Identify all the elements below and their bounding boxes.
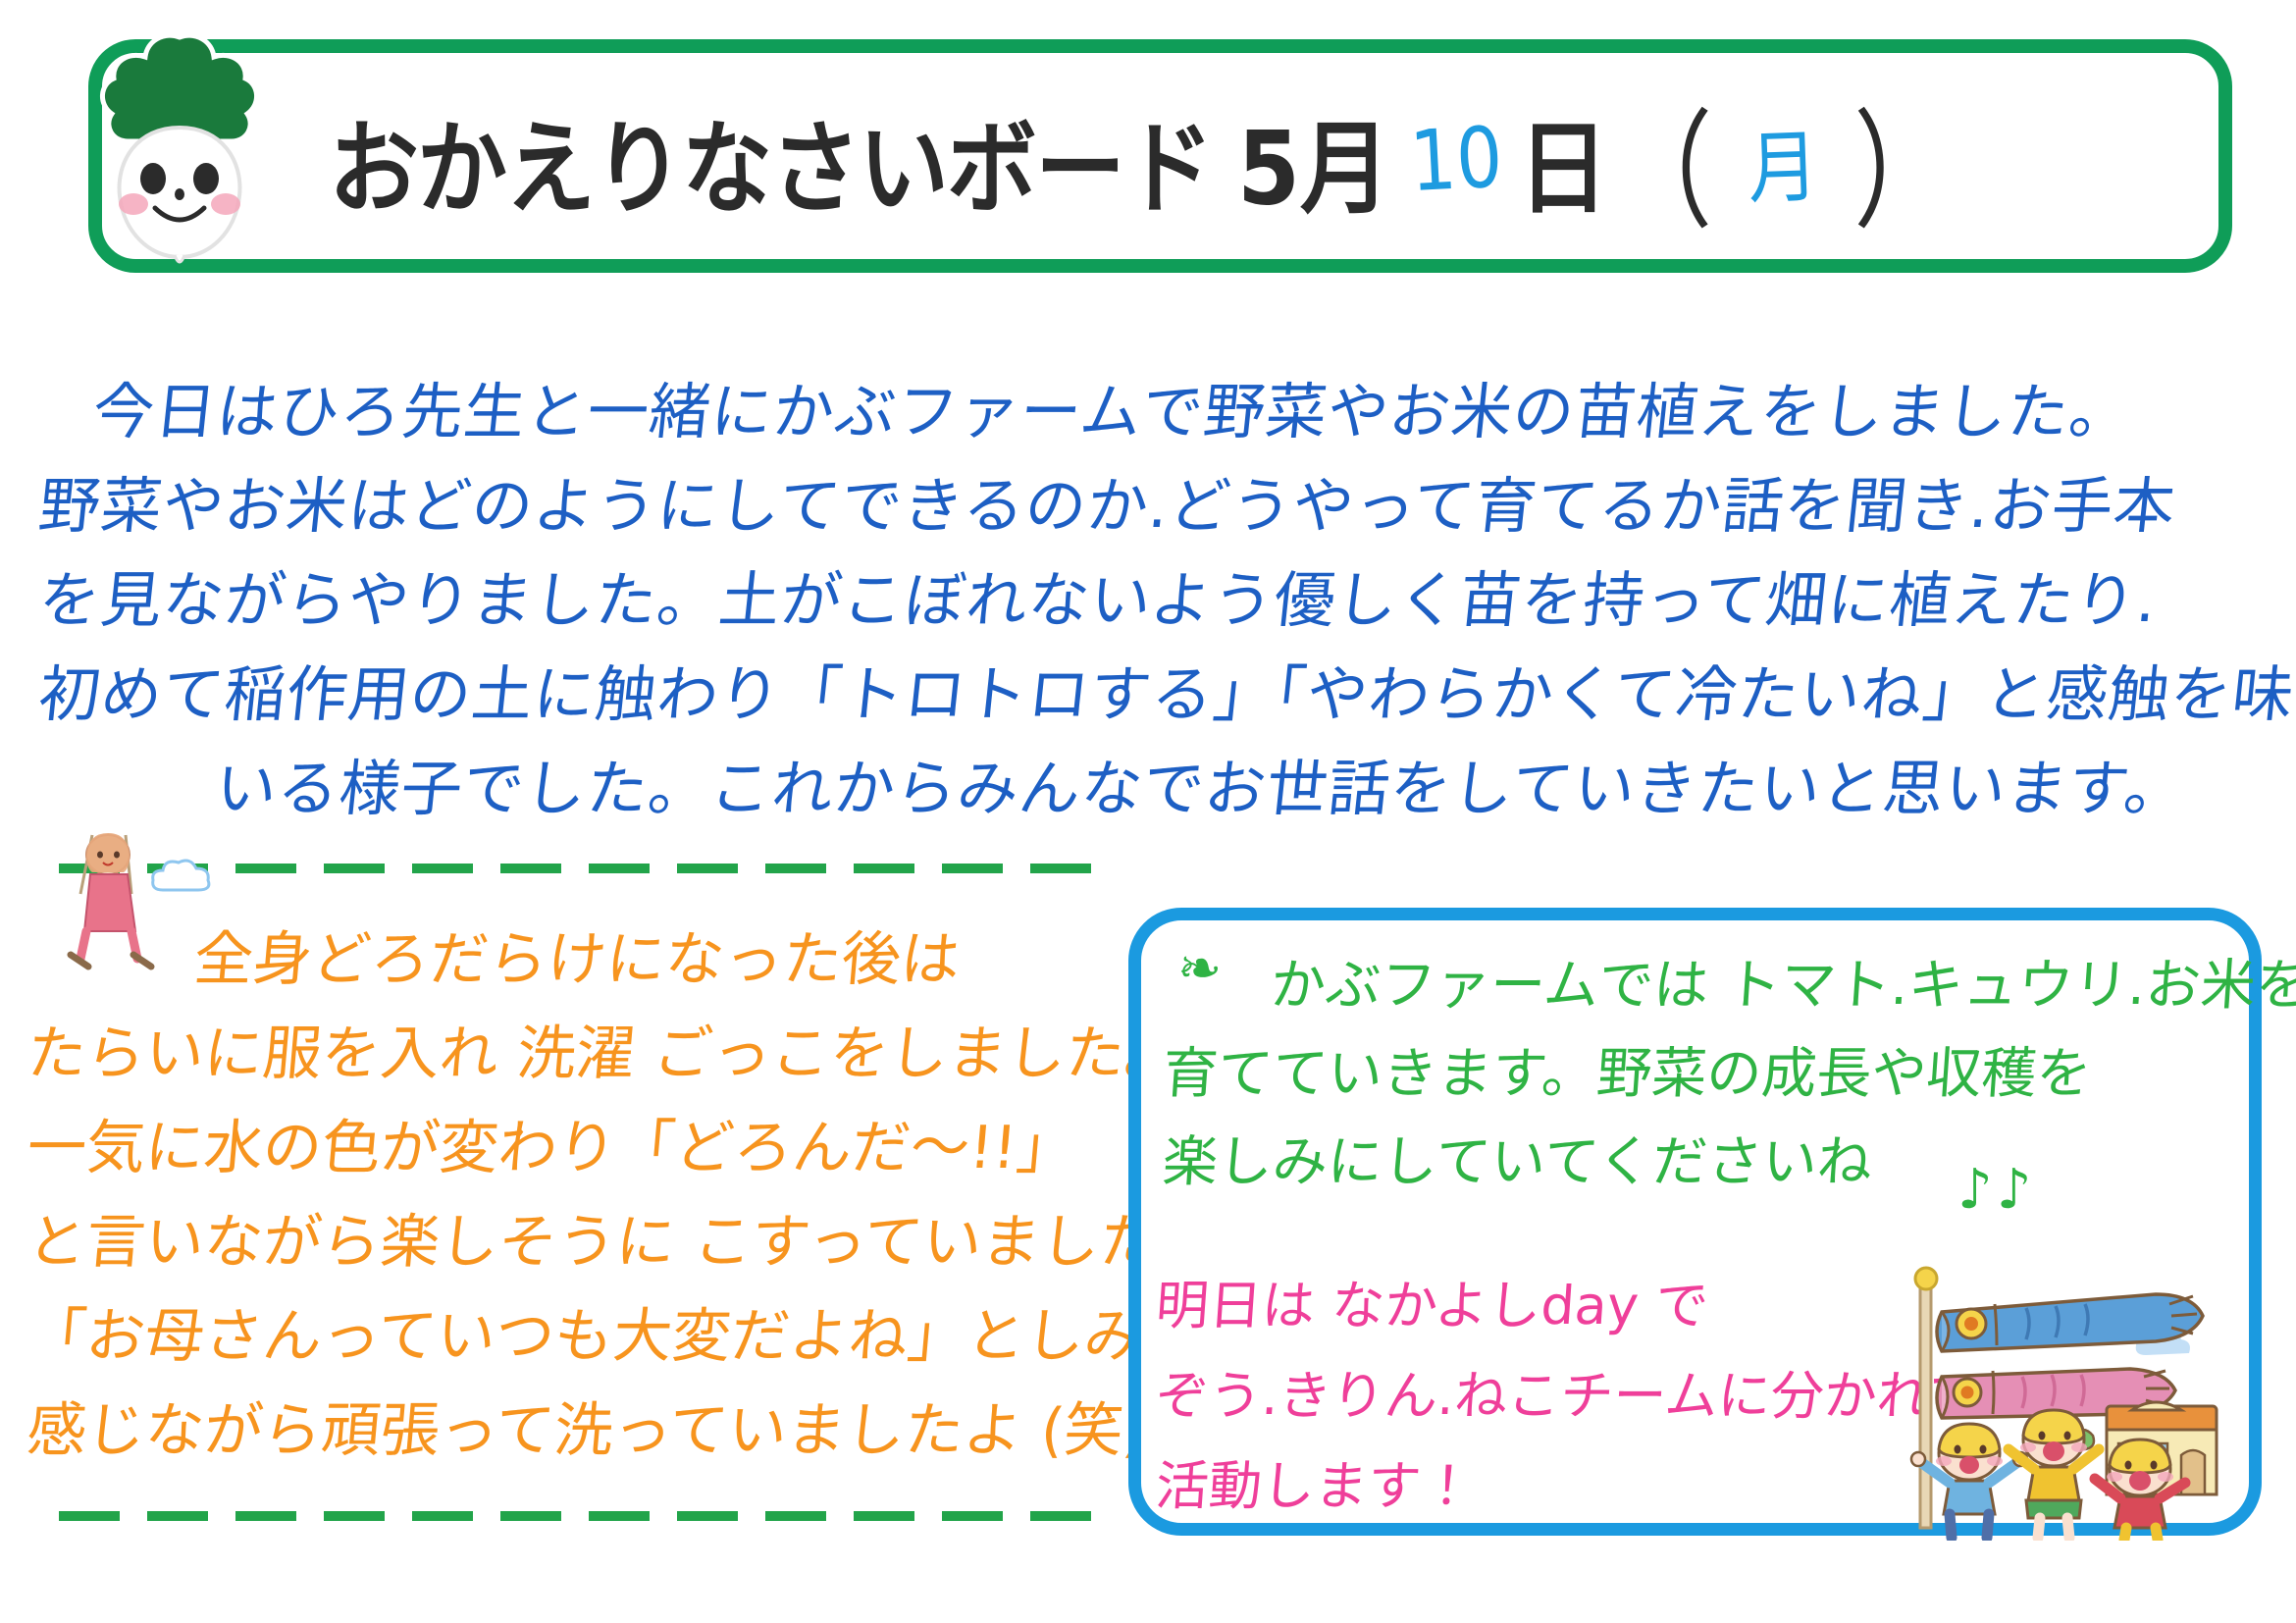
laundry-line: 一気に水の色が変わり「どろんだ〜!!」 xyxy=(24,1101,1130,1195)
board-title: おかえりなさいボード xyxy=(329,87,1212,234)
daily-report-text: 今日はひろ先生と一緒にかぶファームで野菜やお米の苗植えをしました。 野菜やお米は… xyxy=(39,365,2286,836)
farm-note-line: かぶファームでは トマト.キュウリ.お米を xyxy=(1160,942,2255,1030)
month-label: 5月 xyxy=(1237,87,1390,234)
report-line: いる様子でした。これからみんなでお世話をしていきたいと思います。 xyxy=(34,742,2291,836)
farm-note-line: 楽しみにしていてくださいね xyxy=(1160,1119,2255,1207)
report-line: 野菜やお米はどのようにしてできるのか.どうやって育てるか話を聞き.お手本 xyxy=(34,459,2291,553)
day-label: 日 xyxy=(1518,87,1608,234)
tomorrow-note-line: ぞう.きりん.ねこチームに分かれて xyxy=(1153,1351,1963,1441)
laundry-line: 全身どろだらけになった後は xyxy=(24,913,1130,1007)
report-line: 今日はひろ先生と一緒にかぶファームで野菜やお米の苗植えをしました。 xyxy=(34,365,2291,459)
report-line: 初めて稲作用の土に触わり「トロトロする」「やわらかくて冷たいね」と感触を味わって xyxy=(34,648,2291,742)
report-line: を見ながらやりました。土がこぼれないよう優しく苗を持って畑に植えたり. xyxy=(34,553,2291,648)
turnip-mascot-icon xyxy=(77,29,283,265)
laundry-line: 「お母さんっていつも大変だよね」としみじみ xyxy=(24,1289,1130,1384)
music-note-icon: ♪♪ xyxy=(1957,1158,2035,1222)
paren-close: ） xyxy=(1853,68,1952,253)
divider-bottom xyxy=(59,1511,1099,1521)
header-title-row: おかえりなさいボード 5月 10 日 （ 月 ） xyxy=(329,86,1948,234)
koinobori-illustration-icon xyxy=(1899,1261,2237,1541)
farm-note-text: かぶファームでは トマト.キュウリ.お米を 育てていきます。野菜の成長や収穫を … xyxy=(1163,942,2252,1207)
tomorrow-note-line: 明日は なかよしday で xyxy=(1153,1261,1963,1351)
tomorrow-note-text: 明日は なかよしday で ぞう.きりん.ねこチームに分かれて 活動します！ xyxy=(1156,1261,1960,1532)
weekday-handwritten: 月 xyxy=(1746,101,1820,219)
laundry-story-text: 全身どろだらけになった後は たらいに服を入れ 洗濯 ごっこをしました。 一気に水… xyxy=(27,913,1126,1478)
paren-open: （ xyxy=(1614,68,1712,253)
okaerinasai-board: おかえりなさいボード 5月 10 日 （ 月 ） 今日はひろ先生と一緒にかぶファ… xyxy=(0,0,2296,1623)
farm-note-line: 育てていきます。野菜の成長や収穫を xyxy=(1160,1030,2255,1119)
laundry-line: と言いながら楽しそうに こすっていました。 xyxy=(24,1195,1130,1289)
laundry-line: 感じながら頑張って洗っていましたよ (笑) xyxy=(24,1384,1130,1478)
laundry-line: たらいに服を入れ 洗濯 ごっこをしました。 xyxy=(24,1007,1130,1101)
tomorrow-note-line: 活動します！ xyxy=(1153,1441,1963,1532)
day-number-handwritten: 10 xyxy=(1408,109,1505,211)
